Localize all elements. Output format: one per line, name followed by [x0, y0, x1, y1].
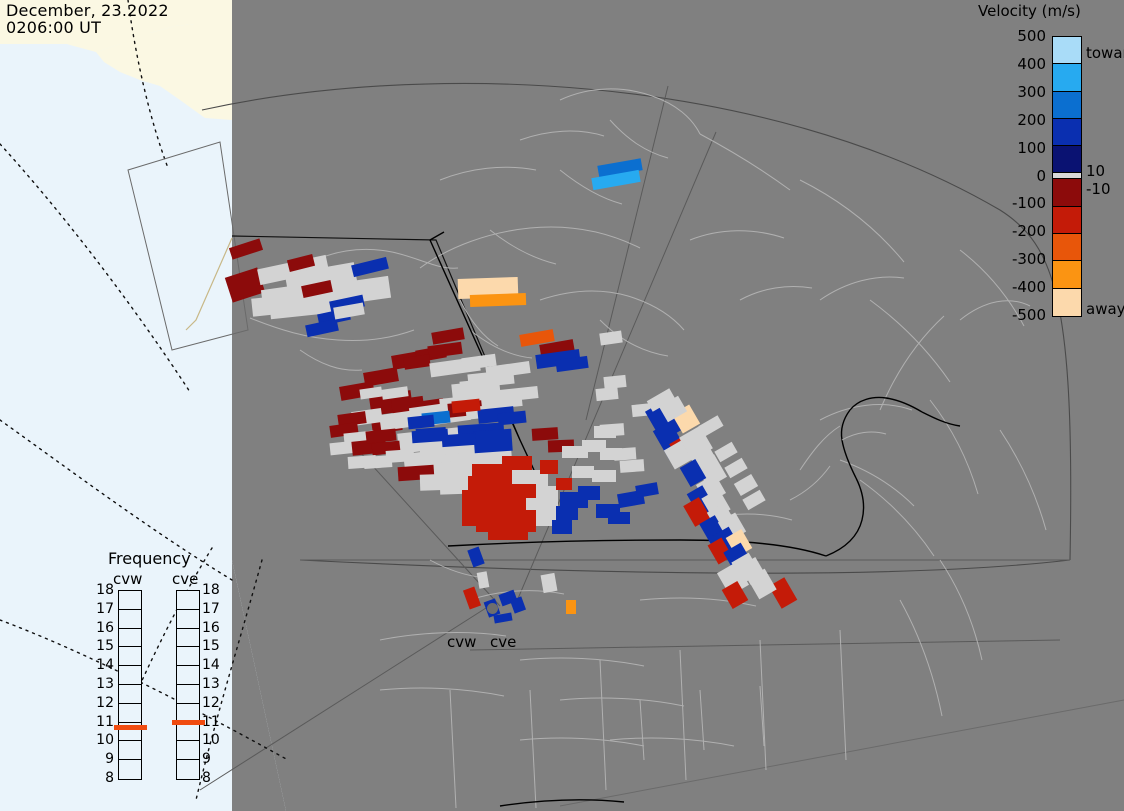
- colorbar-tick-0: 0: [986, 167, 1046, 185]
- colorbar-band--400to-300: [1053, 261, 1081, 288]
- velocity-cell: [502, 456, 532, 470]
- frequency-segment: [177, 741, 199, 760]
- frequency-tick-17: 17: [92, 601, 114, 617]
- frequency-segment: [119, 610, 141, 629]
- frequency-segment: [177, 685, 199, 704]
- frequency-segment: [119, 629, 141, 648]
- colorbar-tick--200: -200: [986, 222, 1046, 240]
- frequency-column-label-cve: cve: [172, 570, 198, 588]
- velocity-cell: [512, 470, 538, 484]
- colorbar-band-100to200: [1053, 119, 1081, 146]
- frequency-tick-13: 13: [92, 676, 114, 692]
- frequency-bar-cvw: [118, 590, 142, 780]
- velocity-cell: [594, 426, 616, 438]
- frequency-tick-14: 14: [202, 657, 224, 673]
- velocity-cell: [620, 459, 645, 473]
- frequency-tick-16: 16: [202, 620, 224, 636]
- frequency-tick-16: 16: [92, 620, 114, 636]
- colorbar-toward-label: toward: [1086, 44, 1124, 62]
- frequency-tick-8: 8: [92, 770, 114, 786]
- velocity-cell: [488, 524, 528, 540]
- colorbar-band-10to100: [1053, 146, 1081, 173]
- frequency-tick-15: 15: [92, 638, 114, 654]
- radar-station-marker: [487, 603, 498, 614]
- frequency-segment: [177, 629, 199, 648]
- colorbar-tick--500: -500: [986, 306, 1046, 324]
- frequency-segment: [119, 741, 141, 760]
- colorbar-title: Velocity (m/s): [978, 2, 1081, 20]
- velocity-cell: [532, 427, 559, 441]
- velocity-cell: [473, 429, 512, 454]
- frequency-segment: [177, 591, 199, 610]
- velocity-cell: [526, 498, 540, 510]
- frequency-tick-18: 18: [92, 582, 114, 598]
- velocity-cell: [572, 466, 594, 478]
- frequency-bar-cve: [176, 590, 200, 780]
- frequency-tick-11: 11: [92, 714, 114, 730]
- frequency-marker-cve: [172, 720, 205, 725]
- frequency-tick-12: 12: [92, 695, 114, 711]
- frequency-tick-15: 15: [202, 638, 224, 654]
- frequency-scale-right: 18171615141312111098: [202, 590, 224, 780]
- time-label: 0206:00 UT: [6, 19, 169, 36]
- frequency-scale-left: 18171615141312111098: [92, 590, 114, 780]
- date-label: December, 23.2022: [6, 2, 169, 19]
- frequency-segment: [177, 647, 199, 666]
- velocity-cell: [578, 486, 600, 500]
- frequency-tick-9: 9: [202, 751, 224, 767]
- velocity-cell: [608, 512, 630, 524]
- fov-outline-left: [128, 142, 248, 350]
- velocity-cell: [552, 520, 572, 534]
- frequency-column-label-cvw: cvw: [113, 570, 142, 588]
- frequency-segment: [177, 760, 199, 779]
- velocity-cell: [556, 478, 572, 490]
- colorbar-tick--400: -400: [986, 278, 1046, 296]
- frequency-segment: [119, 647, 141, 666]
- velocity-cell: [541, 573, 558, 593]
- colorbar-tick-100: 100: [986, 139, 1046, 157]
- frequency-tick-17: 17: [202, 601, 224, 617]
- colorbar-band--300to-200: [1053, 234, 1081, 261]
- colorbar-inner-neg-label: -10: [1086, 180, 1111, 198]
- colorbar-tick-200: 200: [986, 111, 1046, 129]
- velocity-cell: [556, 506, 578, 520]
- frequency-segment: [177, 723, 199, 742]
- colorbar-inner-pos-label: 10: [1086, 162, 1105, 180]
- frequency-tick-11: 11: [202, 714, 224, 730]
- frequency-tick-8: 8: [202, 770, 224, 786]
- colorbar-band-200to300: [1053, 92, 1081, 119]
- velocity-cell: [540, 460, 558, 474]
- frequency-tick-9: 9: [92, 751, 114, 767]
- colorbar-tick-300: 300: [986, 83, 1046, 101]
- frequency-segment: [177, 666, 199, 685]
- velocity-colorbar: [1052, 36, 1082, 317]
- velocity-cell: [592, 470, 616, 482]
- frequency-panel-title: Frequency: [108, 549, 191, 568]
- velocity-cell: [386, 449, 415, 463]
- frequency-tick-10: 10: [202, 732, 224, 748]
- colorbar-tick--100: -100: [986, 194, 1046, 212]
- frequency-tick-10: 10: [92, 732, 114, 748]
- colorbar-band--200to-100: [1053, 207, 1081, 234]
- station-label-cvw: cvw: [447, 633, 476, 651]
- basemap-layer: [0, 0, 1124, 811]
- frequency-segment: [177, 610, 199, 629]
- fov-outline-left-edge2: [186, 238, 232, 330]
- frequency-tick-12: 12: [202, 695, 224, 711]
- station-label-cve: cve: [490, 633, 516, 651]
- velocity-cell: [582, 440, 606, 452]
- colorbar-tick-labels: 5004003002001000-100-200-300-400-500: [986, 36, 1046, 317]
- frequency-tick-13: 13: [202, 676, 224, 692]
- frequency-marker-cvw: [114, 725, 147, 730]
- colorbar-tick--300: -300: [986, 250, 1046, 268]
- colorbar-tick-400: 400: [986, 55, 1046, 73]
- superdarn-map-canvas: cvw cve December, 23.2022 0206:00 UT Vel…: [0, 0, 1124, 811]
- frequency-segment: [119, 685, 141, 704]
- colorbar-away-label: away: [1086, 300, 1124, 318]
- frequency-segment: [119, 704, 141, 723]
- velocity-cell: [595, 387, 618, 401]
- colorbar-band-400to500: [1053, 37, 1081, 64]
- frequency-tick-18: 18: [202, 582, 224, 598]
- timestamp-block: December, 23.2022 0206:00 UT: [6, 2, 169, 36]
- velocity-cell: [470, 293, 526, 307]
- velocity-cell: [566, 600, 576, 614]
- colorbar-band--500to-400: [1053, 289, 1081, 316]
- colorbar-tick-500: 500: [986, 27, 1046, 45]
- frequency-tick-14: 14: [92, 657, 114, 673]
- frequency-segment: [119, 591, 141, 610]
- colorbar-band-300to400: [1053, 64, 1081, 91]
- frequency-segment: [119, 760, 141, 779]
- colorbar-band--100to-10: [1053, 179, 1081, 206]
- frequency-segment: [119, 666, 141, 685]
- velocity-cell: [412, 429, 449, 443]
